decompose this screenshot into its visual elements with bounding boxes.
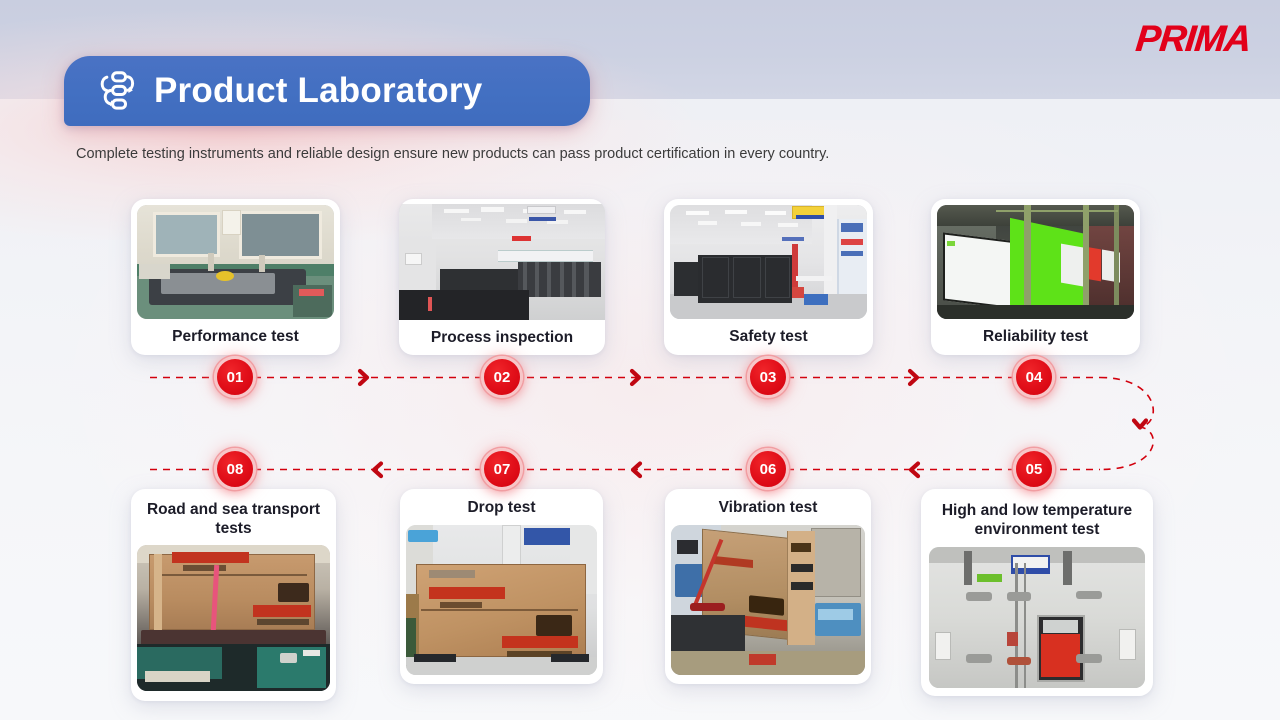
high-low-temperature-photo <box>929 547 1145 688</box>
process-inspection-photo <box>399 204 605 320</box>
vibration-test-photo <box>671 525 865 675</box>
card-label: Drop test <box>400 489 603 525</box>
card-label: Reliability test <box>931 319 1140 355</box>
flow-badge-06[interactable]: 06 <box>747 448 789 490</box>
card-label: Performance test <box>131 319 340 355</box>
card-label: Safety test <box>664 319 873 355</box>
page-title: Product Laboratory <box>154 71 482 111</box>
card-performance-test[interactable]: Performance test <box>131 199 340 355</box>
flow-badge-08[interactable]: 08 <box>214 448 256 490</box>
flow-badge-05[interactable]: 05 <box>1013 448 1055 490</box>
card-label: Process inspection <box>399 320 605 355</box>
card-label: Road and sea transport tests <box>131 489 336 545</box>
card-high-low-temperature[interactable]: High and low temperature environment tes… <box>921 489 1153 696</box>
flow-badge-07[interactable]: 07 <box>481 448 523 490</box>
card-reliability-test[interactable]: Reliability test <box>931 199 1140 355</box>
prima-logo: PRIMA <box>1134 20 1252 57</box>
process-flow-icon <box>92 68 138 114</box>
card-vibration-test[interactable]: Vibration test <box>665 489 871 684</box>
performance-test-photo <box>137 205 334 319</box>
flow-badge-04[interactable]: 04 <box>1013 356 1055 398</box>
card-drop-test[interactable]: Drop test <box>400 489 603 684</box>
card-label: Vibration test <box>665 489 871 525</box>
card-safety-test[interactable]: Safety test <box>664 199 873 355</box>
reliability-test-photo <box>937 205 1134 319</box>
flow-badge-02[interactable]: 02 <box>481 356 523 398</box>
page-title-banner: Product Laboratory <box>64 56 590 126</box>
card-label: High and low temperature environment tes… <box>921 489 1153 547</box>
drop-test-photo <box>406 525 597 675</box>
page-subtitle: Complete testing instruments and reliabl… <box>76 146 829 162</box>
flow-badge-03[interactable]: 03 <box>747 356 789 398</box>
card-process-inspection[interactable]: Process inspection <box>399 199 605 355</box>
safety-test-photo <box>670 205 867 319</box>
flow-badge-01[interactable]: 01 <box>214 356 256 398</box>
card-road-sea-transport[interactable]: Road and sea transport tests <box>131 489 336 701</box>
slide-root: PRIMA Product Laboratory Complet <box>0 0 1280 720</box>
road-sea-transport-photo <box>137 545 330 691</box>
